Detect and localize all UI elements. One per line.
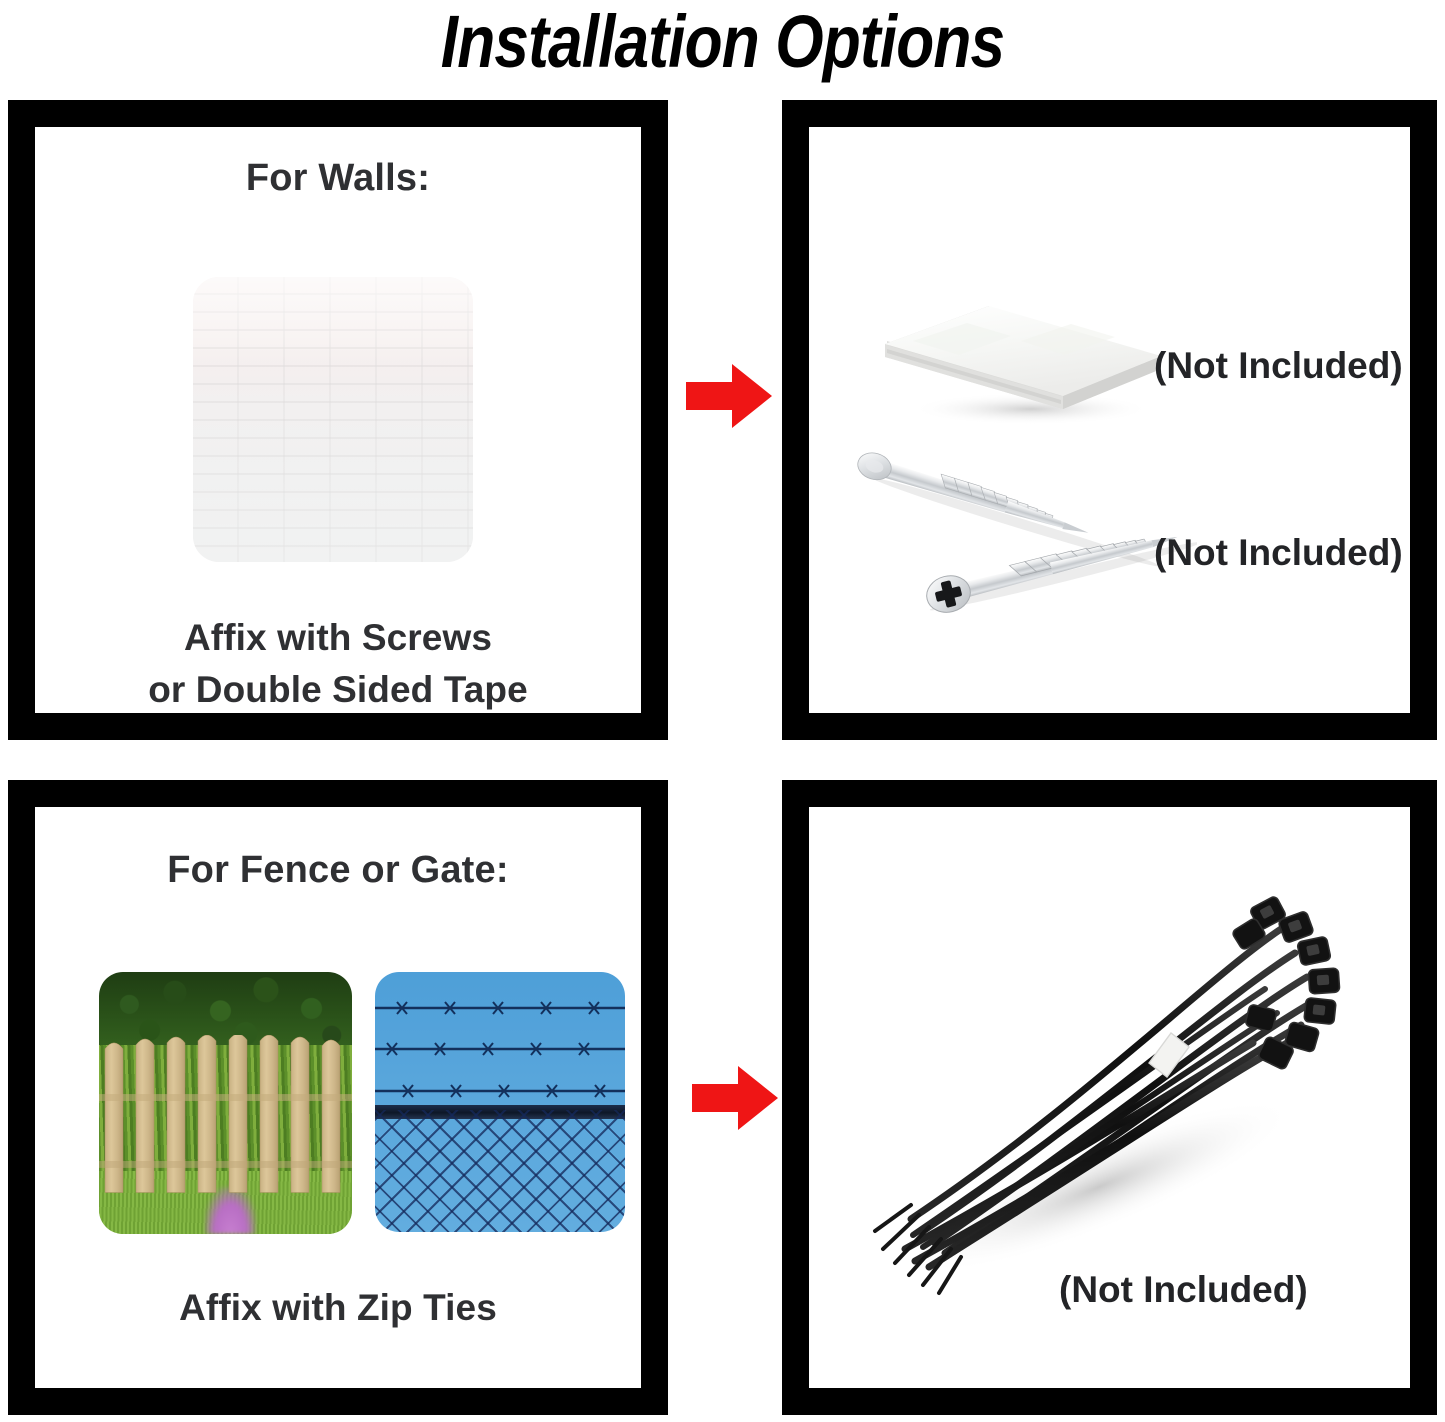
panel-for-walls: For Walls: Affix with Screws or Double S… <box>8 100 668 740</box>
chain-link-mesh <box>375 1110 625 1232</box>
white-brick-wall-photo <box>193 277 473 562</box>
arrow-fence-to-zipties-icon <box>690 1062 780 1134</box>
wood-screws-photo <box>837 445 1197 640</box>
barbed-wire-strand-1 <box>375 1001 625 1015</box>
black-zip-ties-bundle-photo <box>849 857 1349 1297</box>
wooden-picket-fence-photo <box>99 972 352 1234</box>
double-sided-tape-stack-photo <box>871 237 1171 427</box>
double-sided-tape-caption: or Double Sided Tape <box>35 669 641 711</box>
arrow-walls-to-hardware-icon <box>684 360 774 432</box>
chain-link-barbed-wire-fence-photo <box>375 972 625 1232</box>
tape-not-included-label: (Not Included) <box>1154 345 1403 387</box>
screws-not-included-label: (Not Included) <box>1154 532 1403 574</box>
affix-with-zip-ties-caption: Affix with Zip Ties <box>35 1287 641 1329</box>
for-walls-heading: For Walls: <box>35 157 641 200</box>
zip-ties-not-included-label: (Not Included) <box>1059 1269 1308 1311</box>
for-fence-or-gate-heading: For Fence or Gate: <box>35 849 641 892</box>
barbed-wire-strand-3 <box>375 1084 625 1098</box>
page-title: Installation Options <box>116 0 1330 86</box>
brick-highlight-overlay <box>193 277 473 562</box>
barbed-wire-strand-2 <box>375 1042 625 1056</box>
panel-hardware: (Not Included) <box>782 100 1437 740</box>
panel-for-fence-or-gate: For Fence or Gate: <box>8 780 668 1415</box>
picket-slats <box>99 1035 352 1197</box>
panel-zip-ties: (Not Included) <box>782 780 1437 1415</box>
affix-with-screws-caption: Affix with Screws <box>35 617 641 659</box>
